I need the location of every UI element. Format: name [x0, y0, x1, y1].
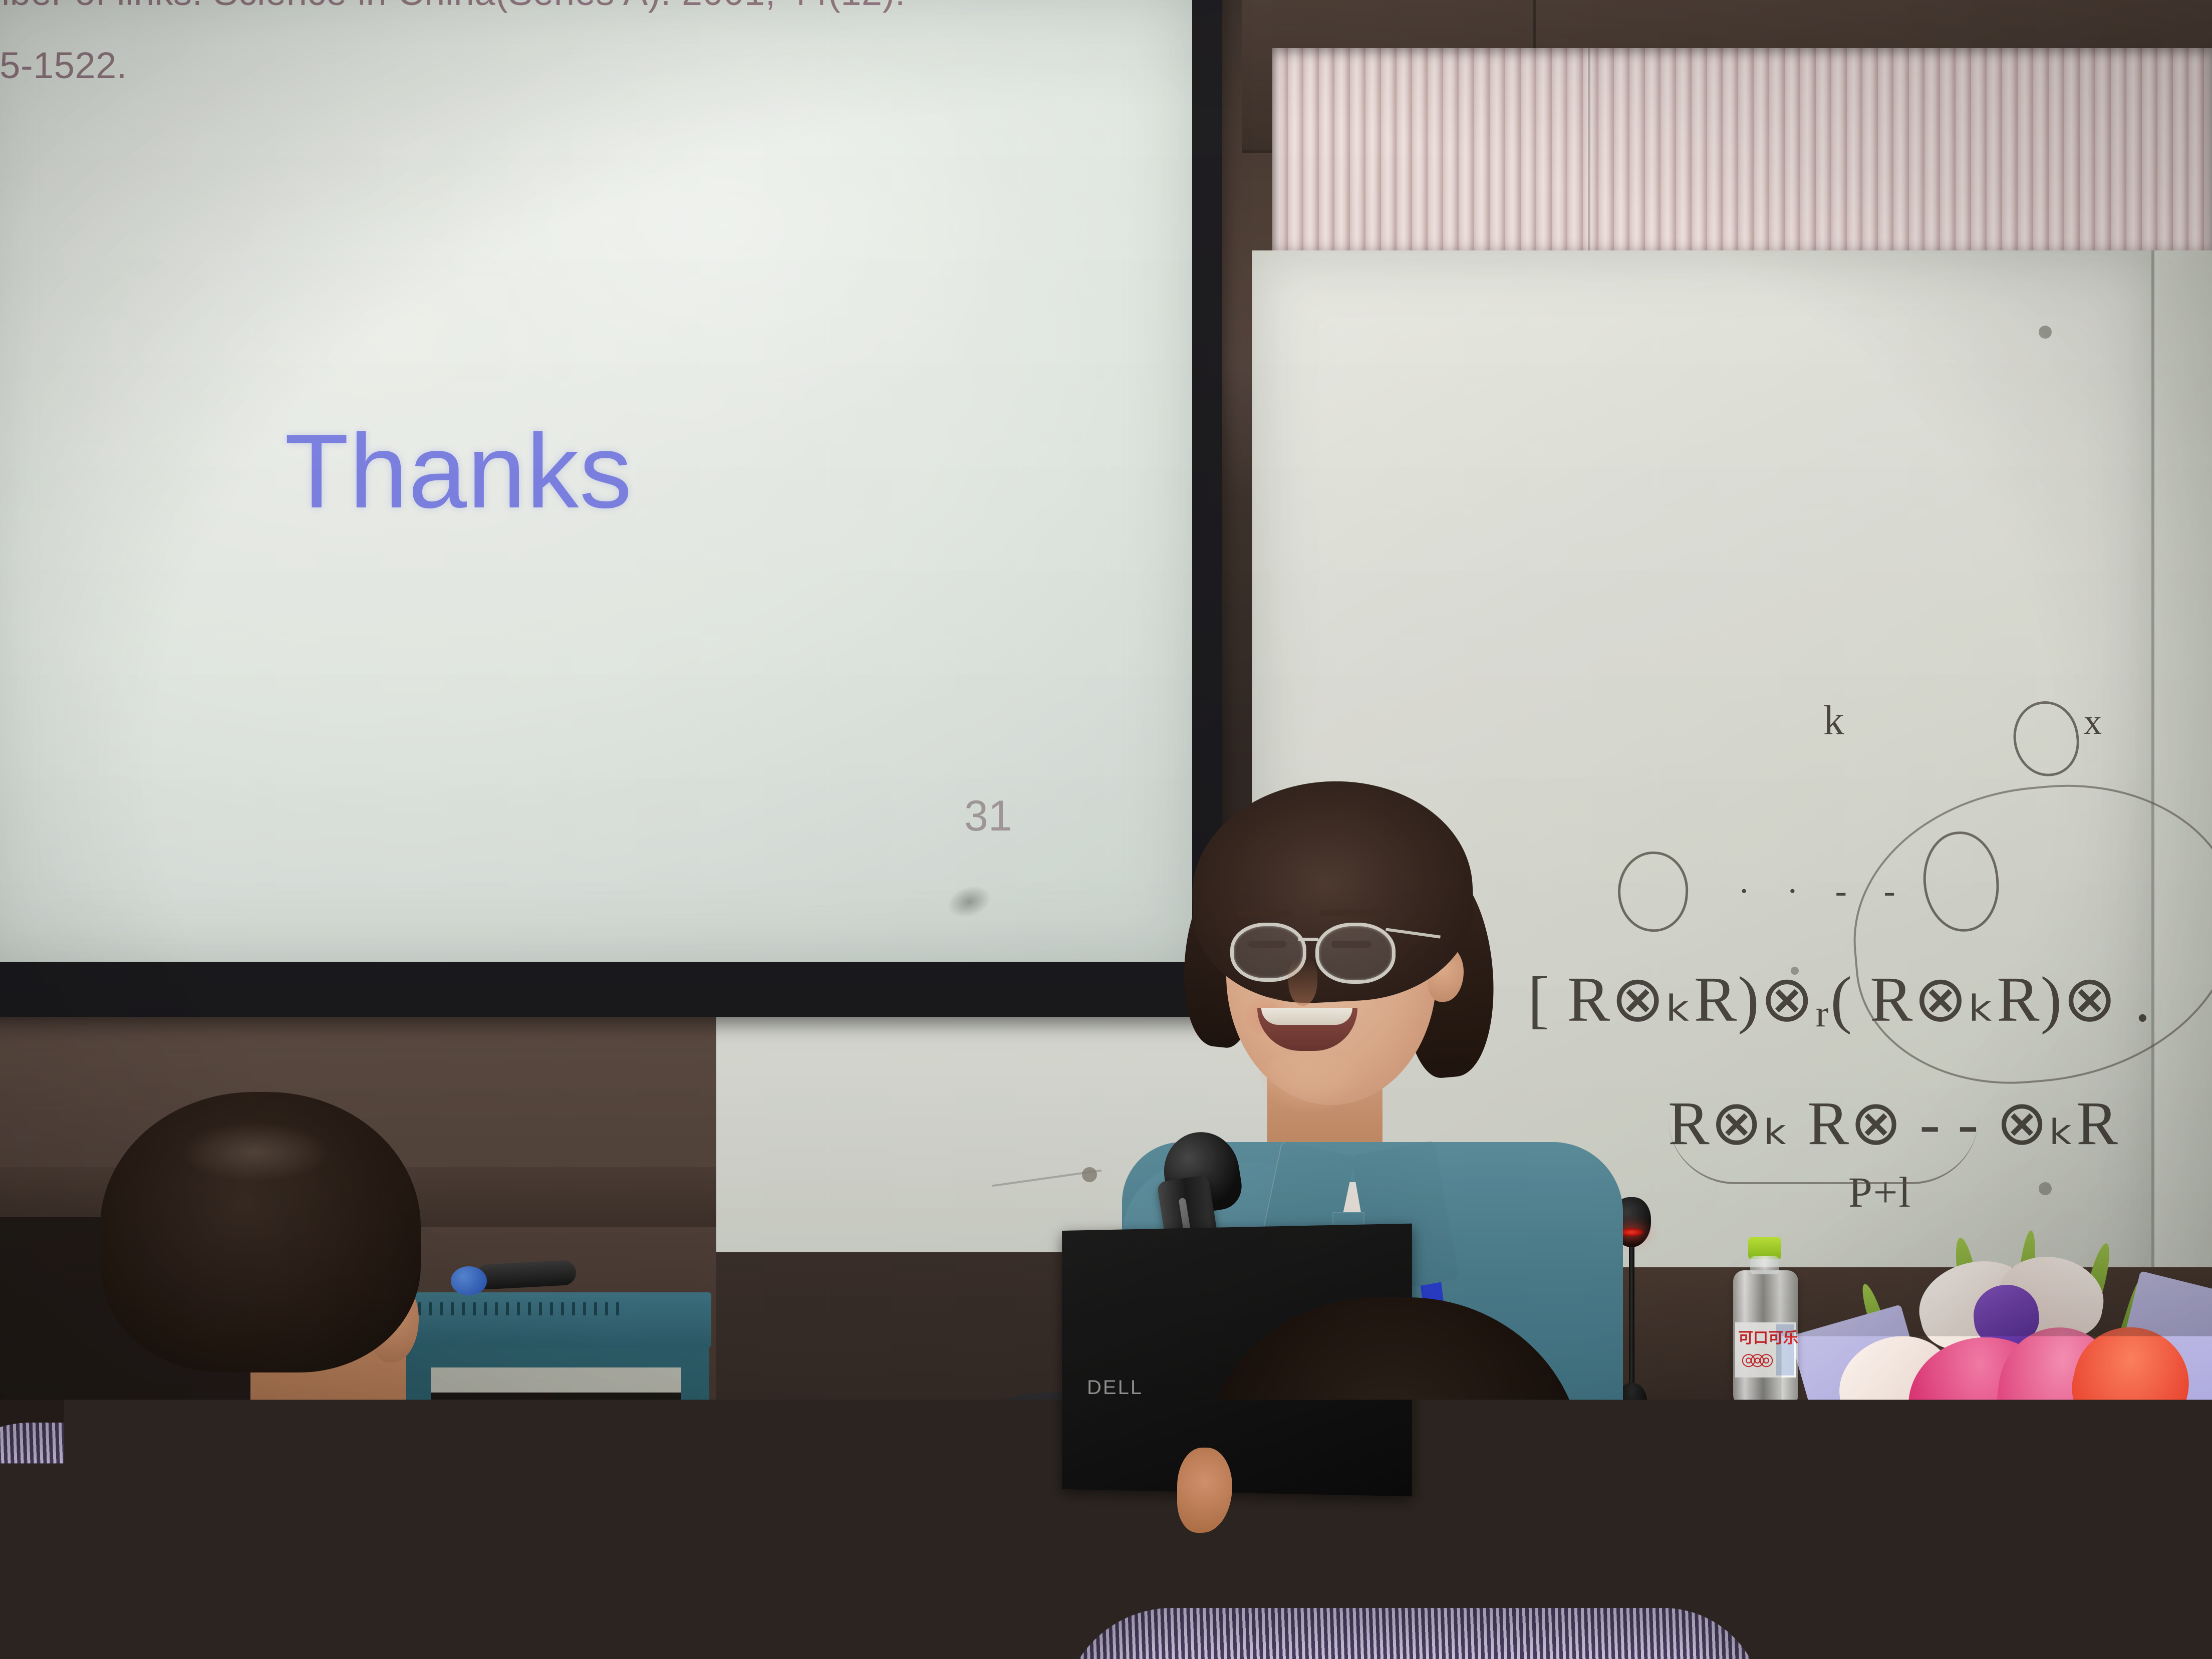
presenter-chin	[1257, 1052, 1362, 1112]
bottle-label-text: 冰露包装饮用水	[2054, 1592, 2099, 1624]
audience-hair	[1202, 1297, 1583, 1659]
bottle-brand: 可口可乐	[1738, 1325, 1798, 1347]
olympic-rings-icon: ◎◎◎	[1741, 1349, 1768, 1369]
eyeglasses-lens-right	[1315, 923, 1396, 984]
leaf-icon: ❇	[2031, 1561, 2054, 1589]
slide-reference-line-1: umber of links. Science in China(Series …	[0, 0, 906, 14]
projection-screen: umber of links. Science in China(Series …	[0, 0, 1192, 962]
bottle-brand: 可口可乐	[2072, 1565, 2124, 1583]
whiteboard-underbrace	[1668, 1117, 1979, 1184]
audience-front-center	[1162, 1297, 1613, 1659]
slatted-wall-panel	[1272, 48, 2212, 258]
bottle-front-left-a[interactable]: 可口可乐	[1012, 1548, 1097, 1659]
laptop-brand-logo: DELL	[1087, 1376, 1162, 1399]
bottle-on-desk[interactable]: 可口可乐 ◎◎◎	[1733, 1237, 1798, 1408]
presenter-eyebrow-left	[1237, 911, 1292, 917]
gooseneck-microphone-stem	[1629, 1237, 1634, 1408]
slide-page-number: 31	[964, 791, 1012, 841]
bottle-front-right[interactable]: ❇ 可口可乐 ◎◎◎ 冰露包装饮用水	[2024, 1463, 2099, 1659]
whiteboard-symbol-k: k	[1823, 696, 1845, 745]
wall-screw-cap	[1082, 1167, 1097, 1182]
audience-hair-highlight	[180, 1122, 331, 1182]
whiteboard-magnet	[2039, 326, 2052, 339]
microphone-active-led	[1620, 1228, 1643, 1236]
presenter-teeth	[1261, 1008, 1352, 1025]
whiteboard-dots: · · - -	[1738, 872, 1909, 912]
eyeglasses-bridge	[1298, 938, 1318, 941]
screen-glare	[421, 0, 1022, 451]
slide-reference-line-2: 515-1522.	[0, 44, 127, 87]
presenter-eyebrow-right	[1320, 910, 1379, 916]
screen-smudge	[943, 881, 995, 923]
whiteboard-magnet	[2039, 1182, 2052, 1195]
chair-fastener	[899, 1460, 910, 1471]
bottle-brand: 可口可乐	[1019, 1639, 1087, 1659]
whiteboard-symbol-x: x	[2084, 701, 2103, 743]
bottle-cap	[1033, 1548, 1076, 1576]
presentation-room-photo: x k · · - - [ R⊗ₖR)⊗ᵣ( R⊗ₖR)⊗ . R⊗ₖ R⊗ -…	[0, 0, 2212, 1659]
audience-front-bottom	[230, 1483, 681, 1659]
audience-hair	[230, 1483, 681, 1659]
bottle-cap	[2041, 1463, 2079, 1488]
slat-panel-seam	[1588, 48, 1590, 258]
presenter-nose	[1288, 958, 1317, 1006]
slide-title-thanks: Thanks	[285, 411, 633, 532]
whiteboard-equation-line-1: [ R⊗ₖR)⊗ᵣ( R⊗ₖR)⊗ .	[1528, 962, 2151, 1036]
